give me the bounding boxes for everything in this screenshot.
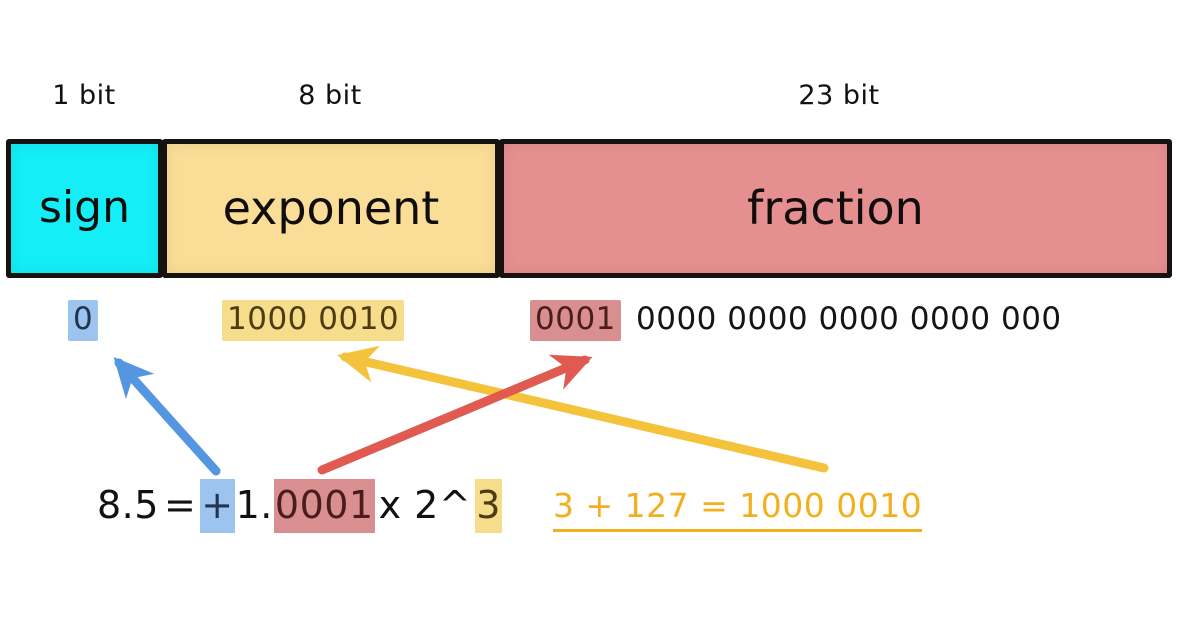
note-exponent-encoding: 3 + 127 = 1000 0010 bbox=[553, 486, 922, 532]
bit-string-sign: 0 bbox=[68, 300, 98, 341]
equation-sign-token: + bbox=[200, 479, 234, 533]
field-label-sign: sign bbox=[39, 186, 130, 230]
bit-string-row: 0 1000 0010 0001 0000 0000 0000 0000 000 bbox=[0, 300, 1180, 342]
field-box-exponent: exponent bbox=[162, 139, 500, 278]
floating-point-diagram: 1 bit 8 bit 23 bit sign exponent fractio… bbox=[0, 0, 1180, 620]
bit-label-sign: 1 bit bbox=[24, 80, 144, 111]
bit-string-fraction-highlight: 0001 bbox=[530, 300, 621, 341]
exponent-arrow bbox=[345, 357, 824, 468]
equation-mantissa-lead: 1. bbox=[235, 479, 274, 533]
fraction-arrow bbox=[322, 360, 585, 470]
field-boxes-row: sign exponent fraction bbox=[6, 139, 1172, 278]
field-box-sign: sign bbox=[6, 139, 163, 278]
bit-string-fraction-rest: 0000 0000 0000 0000 000 bbox=[631, 300, 1067, 341]
sign-arrow bbox=[119, 363, 216, 471]
field-box-fraction: fraction bbox=[499, 139, 1172, 278]
equation-value: 8.5 bbox=[96, 479, 160, 533]
equation-equals: = bbox=[160, 479, 200, 533]
bit-label-fraction: 23 bit bbox=[776, 80, 902, 111]
bit-label-exponent: 8 bit bbox=[270, 80, 390, 111]
equation-mantissa-bits: 0001 bbox=[274, 479, 375, 533]
equation-times: x 2^ bbox=[375, 479, 476, 533]
field-label-fraction: fraction bbox=[747, 185, 924, 231]
bit-string-exponent: 1000 0010 bbox=[222, 300, 404, 341]
equation: 8.5=+1.0001x 2^3 bbox=[96, 482, 502, 530]
field-label-exponent: exponent bbox=[223, 185, 440, 231]
equation-exponent-value: 3 bbox=[475, 479, 502, 533]
